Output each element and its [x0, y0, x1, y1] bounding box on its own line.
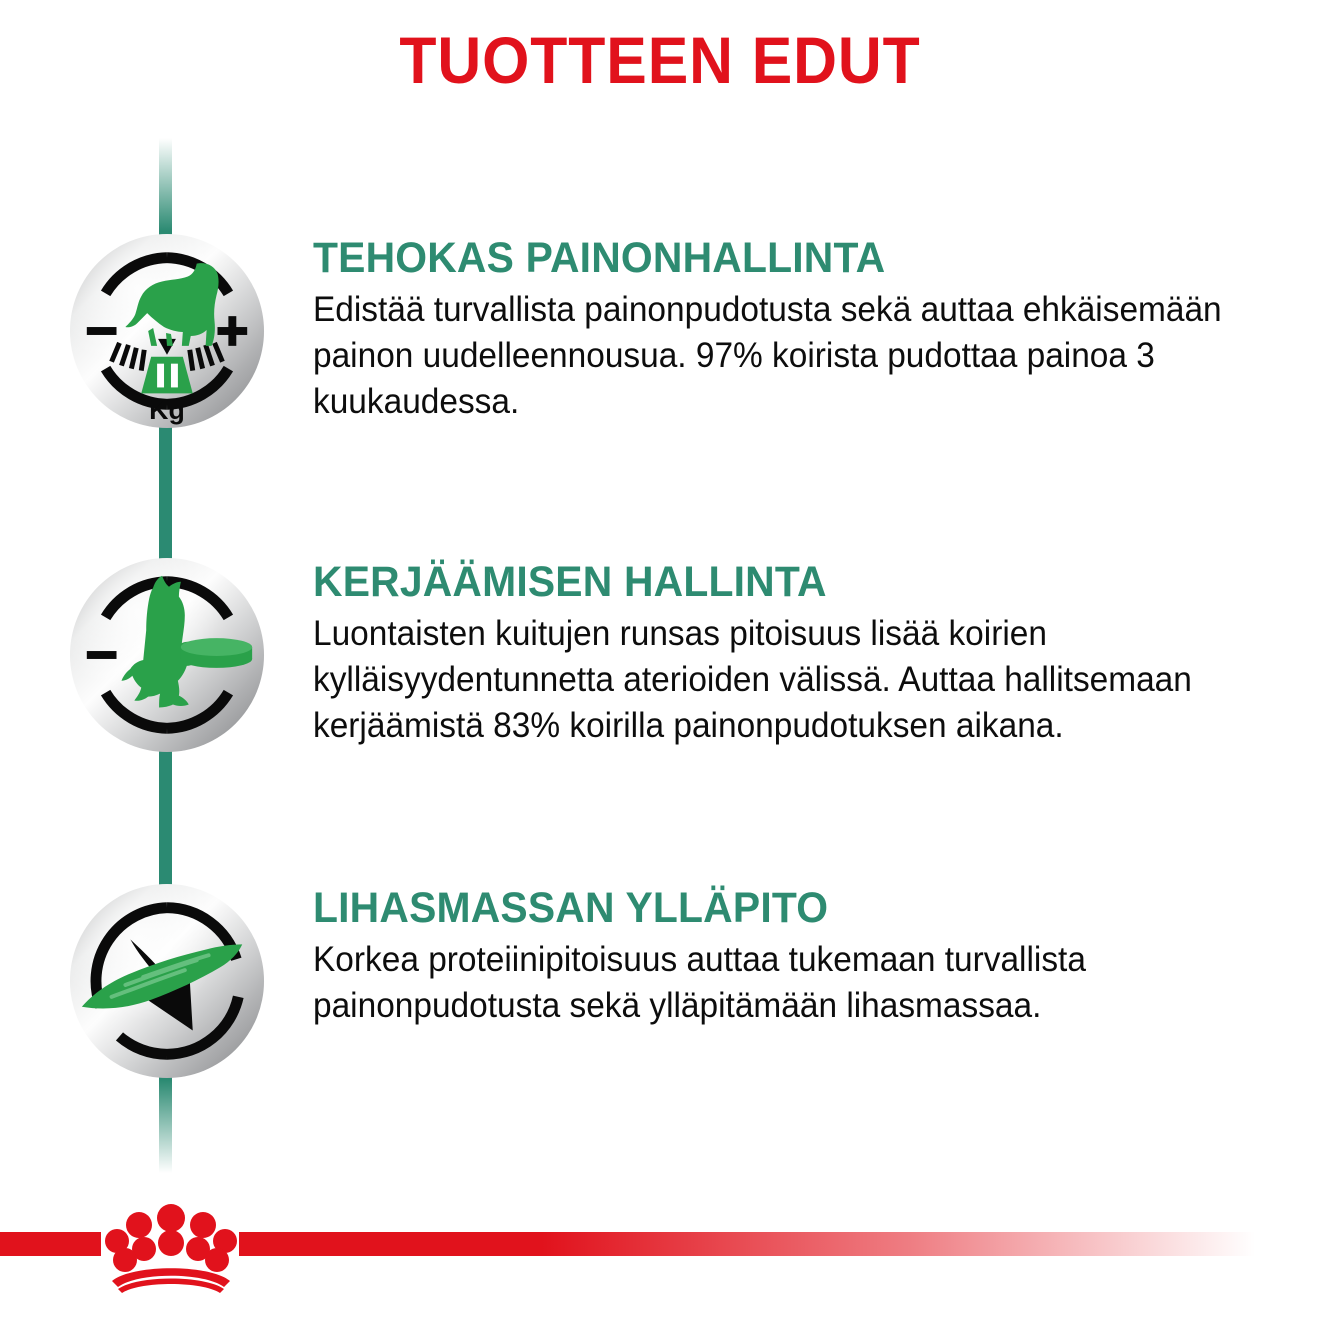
muscle-mass-arrow-icon: [68, 882, 266, 1080]
royal-canin-crown-logo: [96, 1196, 246, 1294]
footer-bar-left: [0, 1232, 101, 1256]
benefit-text-block: KERJÄÄMISEN HALLINTA Luontaisten kuituje…: [313, 560, 1288, 749]
product-benefits-page: TUOTTEEN EDUT: [0, 0, 1320, 1320]
benefit-body: Luontaisten kuitujen runsas pitoisuus li…: [313, 611, 1306, 749]
benefit-heading: TEHOKAS PAINONHALLINTA: [313, 236, 1239, 281]
dog-on-weighing-scale-icon: Kg: [68, 232, 266, 430]
benefit-heading: LIHASMASSAN YLLÄPITO: [313, 886, 1239, 931]
benefit-body: Edistää turvallista painonpudotusta sekä…: [313, 287, 1278, 425]
benefit-text-block: LIHASMASSAN YLLÄPITO Korkea proteiinipit…: [313, 886, 1288, 1029]
begging-dog-with-bowl-icon: [68, 556, 266, 754]
benefit-body: Korkea proteiinipitoisuus auttaa tukemaa…: [313, 937, 1278, 1029]
page-title: TUOTTEEN EDUT: [53, 26, 1267, 95]
svg-text:Kg: Kg: [149, 395, 185, 425]
footer-bar-right: [239, 1232, 1320, 1256]
benefit-text-block: TEHOKAS PAINONHALLINTA Edistää turvallis…: [313, 236, 1288, 425]
benefit-heading: KERJÄÄMISEN HALLINTA: [313, 560, 1239, 605]
